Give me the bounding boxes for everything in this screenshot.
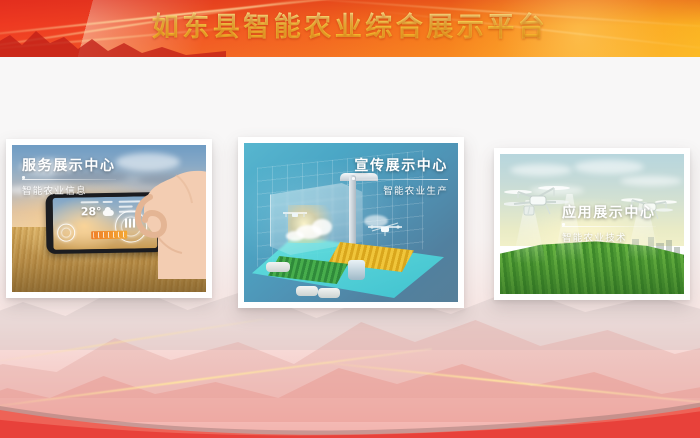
- card-publicity-caption: 宣传展示中心 智能农业生产: [354, 155, 448, 197]
- cloud-shape: [574, 160, 644, 174]
- cloud-shape: [510, 164, 572, 176]
- caption-divider: [354, 179, 448, 180]
- cloud-shape: [620, 176, 682, 186]
- card-application-subtitle: 智能农业技术: [562, 230, 656, 244]
- hay-bale: [266, 262, 290, 272]
- hud-bar: [103, 201, 113, 203]
- water-tank: [348, 260, 365, 280]
- card-service-caption: 服务展示中心 智能农业信息: [22, 155, 116, 197]
- card-application-image: 应用展示中心 智能农业技术: [500, 154, 684, 294]
- cloud-shape: [312, 219, 332, 235]
- card-service-display-center[interactable]: 28°: [6, 139, 212, 298]
- drone-icon: [282, 209, 308, 221]
- hud-data-strip: [91, 231, 127, 240]
- card-application-title: 应用展示中心: [562, 202, 656, 222]
- background-sweep-red-2: [0, 402, 700, 438]
- caption-dot: [22, 176, 25, 179]
- card-publicity-title: 宣传展示中心: [354, 155, 448, 175]
- caption-divider: [562, 226, 656, 227]
- caption-dot: [562, 223, 565, 226]
- drone-icon: [366, 221, 404, 239]
- card-service-subtitle: 智能农业信息: [22, 183, 116, 197]
- card-publicity-display-center[interactable]: 宣传展示中心 智能农业生产: [238, 137, 464, 308]
- header-banner: 如东县智能农业综合展示平台: [0, 0, 700, 57]
- card-service-title: 服务展示中心: [22, 155, 116, 175]
- page-title: 如东县智能农业综合展示平台: [0, 8, 700, 48]
- card-application-caption: 应用展示中心 智能农业技术: [562, 202, 656, 244]
- page-root: 如东县智能农业综合展示平台 28°: [0, 0, 700, 438]
- card-publicity-image: 宣传展示中心 智能农业生产: [244, 143, 458, 302]
- hud-bar: [81, 201, 99, 203]
- hay-bale: [318, 288, 340, 298]
- cloud-shape: [286, 231, 304, 241]
- hay-bale: [296, 286, 318, 296]
- caption-divider: [22, 179, 116, 180]
- weather-temperature: 28°: [81, 205, 102, 218]
- human-hand: [128, 167, 206, 279]
- card-publicity-subtitle: 智能农业生产: [354, 183, 448, 197]
- cloud-icon: [103, 210, 114, 216]
- card-application-display-center[interactable]: 应用展示中心 智能农业技术: [494, 148, 690, 300]
- card-service-image: 28°: [12, 145, 206, 292]
